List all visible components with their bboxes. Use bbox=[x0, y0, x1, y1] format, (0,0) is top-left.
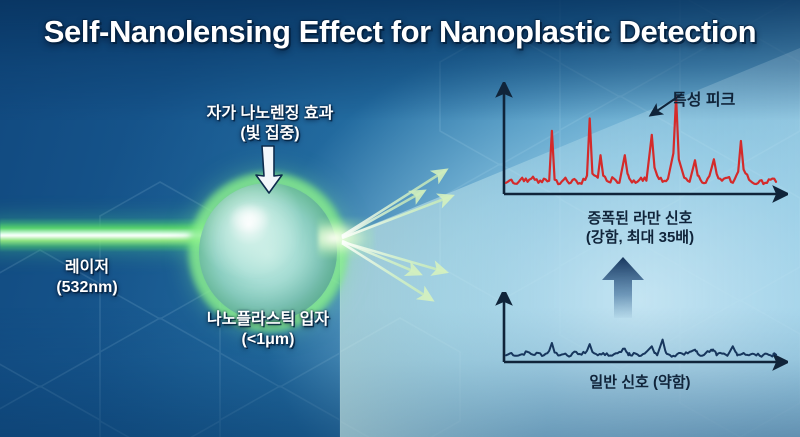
nanoparticle-label: 나노플라스틱 입자 (<1μm) bbox=[178, 310, 358, 350]
infographic-canvas: Self-Nanolensing Effect for Nanoplastic … bbox=[0, 0, 800, 437]
laser-label-line2: (532nm) bbox=[22, 278, 152, 298]
amplified-signal-caption-line2: (강함, 최대 35배) bbox=[500, 229, 780, 248]
nanoparticle-label-line2: (<1μm) bbox=[178, 330, 358, 350]
normal-raman-spectrum-chart bbox=[488, 292, 788, 372]
amplified-signal-trace bbox=[506, 97, 776, 184]
lensing-effect-label-line2: (빛 집중) bbox=[170, 124, 370, 144]
characteristic-peak-annotation: 특성 피크 bbox=[672, 86, 735, 110]
normal-signal-trace bbox=[506, 340, 776, 357]
lensing-effect-label: 자가 나노렌징 효과 (빛 집중) bbox=[170, 104, 370, 144]
amplified-signal-caption: 증폭된 라만 신호 (강함, 최대 35배) bbox=[500, 210, 780, 248]
nanoparticle-label-line1: 나노플라스틱 입자 bbox=[178, 310, 358, 330]
down-arrow-icon bbox=[248, 144, 294, 196]
amplified-raman-spectrum-chart bbox=[488, 82, 788, 207]
lensing-effect-label-line1: 자가 나노렌징 효과 bbox=[170, 104, 370, 124]
normal-signal-caption: 일반 신호 (약함) bbox=[500, 374, 780, 393]
laser-label: 레이저 (532nm) bbox=[22, 258, 152, 298]
amplified-signal-caption-line1: 증폭된 라만 신호 bbox=[500, 210, 780, 229]
normal-chart-axes bbox=[504, 298, 780, 362]
laser-label-line1: 레이저 bbox=[22, 258, 152, 278]
